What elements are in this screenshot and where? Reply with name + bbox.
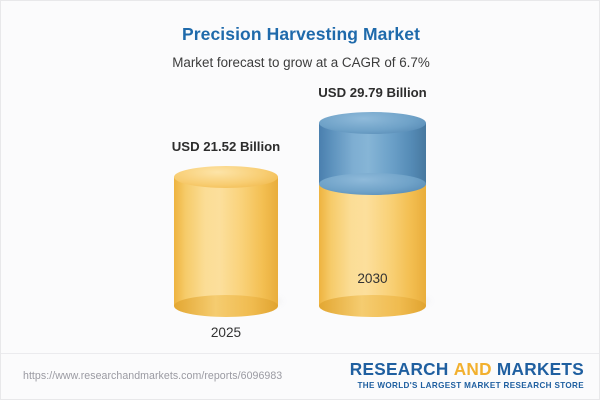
segment-divider-ellipse bbox=[319, 173, 426, 195]
bar-category-label-2025: 2025 bbox=[211, 325, 241, 340]
bar-value-label-2025: USD 21.52 Billion bbox=[172, 139, 280, 154]
chart-plot-area: USD 21.52 Billion 2025 USD 29.79 Billion bbox=[1, 1, 600, 353]
brand-word-and: AND bbox=[454, 359, 492, 379]
segment-body bbox=[174, 177, 278, 306]
brand-logo[interactable]: RESEARCH AND MARKETS THE WORLD'S LARGEST… bbox=[350, 360, 584, 390]
bar-value-label-2030: USD 29.79 Billion bbox=[318, 85, 426, 100]
cylinder-segment-growth-2030 bbox=[319, 123, 426, 184]
brand-wordmark: RESEARCH AND MARKETS bbox=[350, 360, 584, 379]
brand-word-research: RESEARCH bbox=[350, 359, 449, 379]
report-url-link[interactable]: https://www.researchandmarkets.com/repor… bbox=[23, 370, 282, 382]
brand-word-markets: MARKETS bbox=[497, 359, 584, 379]
cylinder-segment-base-2030 bbox=[319, 184, 426, 306]
cylinder-top-ellipse bbox=[319, 112, 426, 134]
cylinder-base-ellipse bbox=[319, 295, 426, 317]
bar-group-2025: USD 21.52 Billion 2025 bbox=[174, 177, 278, 306]
cylinder-segment-base-2025 bbox=[174, 177, 278, 306]
infographic-card: Precision Harvesting Market Market forec… bbox=[0, 0, 600, 400]
cylinder-base-ellipse bbox=[174, 295, 278, 317]
bar-group-2030: USD 29.79 Billion 2030 bbox=[319, 123, 426, 306]
cylinder-top-ellipse bbox=[174, 166, 278, 188]
segment-body bbox=[319, 184, 426, 306]
brand-tagline: THE WORLD'S LARGEST MARKET RESEARCH STOR… bbox=[350, 381, 584, 390]
bar-category-label-2030: 2030 bbox=[357, 271, 387, 286]
cylinder-2025[interactable] bbox=[174, 177, 278, 306]
footer-bar: https://www.researchandmarkets.com/repor… bbox=[1, 354, 600, 400]
